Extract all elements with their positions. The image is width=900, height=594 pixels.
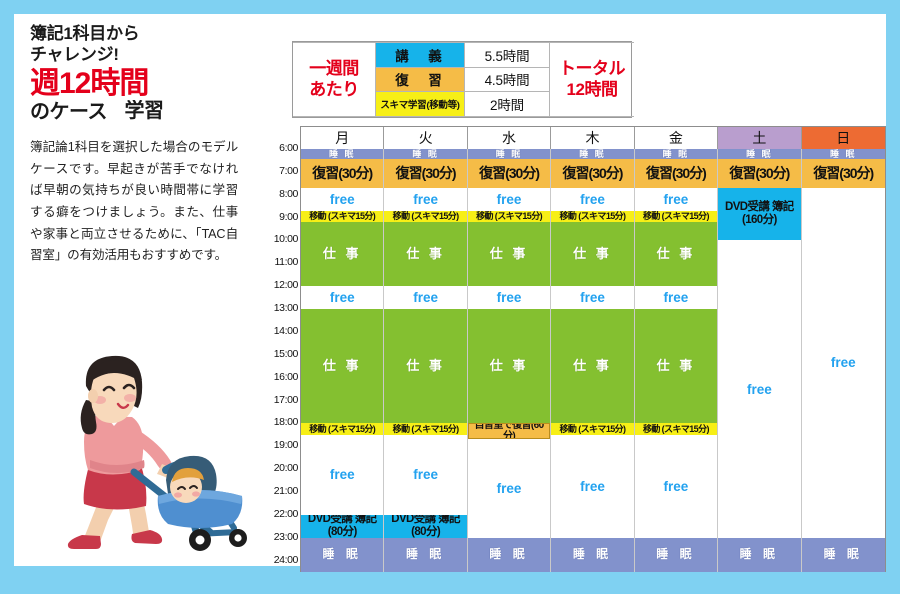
day-header-月: 月 <box>301 127 384 149</box>
schedule-block-free: free <box>468 439 550 537</box>
schedule-block-work: 仕 事 <box>468 222 550 286</box>
time-tick: 22:00 <box>274 509 298 520</box>
schedule-block-commute: 移動 (スキマ15分) <box>551 211 633 222</box>
day-header-火: 火 <box>384 127 467 149</box>
schedule-block-work: 仕 事 <box>301 222 383 286</box>
schedule-block-sleep: 睡 眠 <box>468 149 550 159</box>
headline-line-2: チャレンジ! <box>30 45 258 66</box>
description-text: 簿記論1科目を選択した場合のモデルケースです。早起きが苦手でなければ早朝の気持ち… <box>30 137 238 267</box>
time-tick: 9:00 <box>279 212 298 223</box>
time-tick: 17:00 <box>274 395 298 406</box>
schedule-block-study: 自習室で復習(60分) <box>468 423 550 439</box>
schedule-block-free: free <box>468 286 550 309</box>
schedule-block-commute: 移動 (スキマ15分) <box>384 423 466 434</box>
schedule-block-commute: 移動 (スキマ15分) <box>635 211 717 222</box>
schedule-block-commute: 移動 (スキマ15分) <box>635 423 717 434</box>
schedule-block-review: 復習(30分) <box>635 159 717 188</box>
schedule-block-work: 仕 事 <box>468 309 550 423</box>
woman-stroller-illustration <box>38 342 250 564</box>
schedule-block-free: free <box>551 188 633 211</box>
time-tick: 7:00 <box>279 166 298 177</box>
summary-total-line2: 12時間 <box>550 80 634 100</box>
time-axis: 6:007:008:009:0010:0011:0012:0013:0014:0… <box>264 126 300 574</box>
schedule-block-review: 復習(30分) <box>468 159 550 188</box>
headline-study-black: 学習 <box>30 100 258 122</box>
day-header-水: 水 <box>468 127 551 149</box>
time-tick: 18:00 <box>274 417 298 428</box>
schedule-block-free: free <box>551 286 633 309</box>
summary-row-value-gap-study: 2時間 <box>465 92 550 117</box>
schedule-block-dvd: DVD受講 簿記(80分) <box>384 515 466 538</box>
schedule-block-sleep: 睡 眠 <box>718 149 800 159</box>
schedule-block-sleep: 睡 眠 <box>635 149 717 159</box>
schedule-block-sleep: 睡 眠 <box>551 149 633 159</box>
schedule-block-free: free <box>301 286 383 309</box>
schedule-block-commute: 移動 (スキマ15分) <box>384 211 466 222</box>
schedule-block-dvd: DVD受講 簿記(80分) <box>301 515 383 538</box>
summary-week-label-line1: 一週間 <box>293 59 375 79</box>
summary-week-label-line2: あたり <box>293 80 375 100</box>
headline-emphasis: 週12時間学習 <box>30 68 258 100</box>
schedule-block-work: 仕 事 <box>301 309 383 423</box>
day-column-土: 睡 眠復習(30分)DVD受講 簿記(160分)free睡 眠 <box>718 149 801 572</box>
time-tick: 12:00 <box>274 280 298 291</box>
time-tick: 19:00 <box>274 440 298 451</box>
schedule-block-free: free <box>718 240 800 537</box>
time-tick: 11:00 <box>275 257 299 268</box>
schedule-block-sleep: 睡 眠 <box>802 149 885 159</box>
schedule-block-free: free <box>635 435 717 538</box>
summary-row-value-review: 4.5時間 <box>465 67 550 92</box>
day-header-土: 土 <box>718 127 801 149</box>
schedule-block-work: 仕 事 <box>384 309 466 423</box>
schedule-block-work: 仕 事 <box>635 222 717 286</box>
schedule-block-sleep: 睡 眠 <box>301 538 383 572</box>
time-tick: 21:00 <box>274 486 298 497</box>
schedule-block-work: 仕 事 <box>384 222 466 286</box>
summary-total-label: トータル 12時間 <box>550 43 635 117</box>
schedule-block-free: free <box>468 188 550 211</box>
day-header-日: 日 <box>802 127 885 149</box>
schedule-grid: 月睡 眠復習(30分)free移動 (スキマ15分)仕 事free仕 事移動 (… <box>300 126 886 572</box>
headline-hours-red: 週12時間 <box>30 67 148 100</box>
schedule-block-free: free <box>384 435 466 515</box>
schedule-block-free: free <box>384 188 466 211</box>
schedule-block-review: 復習(30分) <box>551 159 633 188</box>
day-column-火: 睡 眠復習(30分)free移動 (スキマ15分)仕 事free仕 事移動 (ス… <box>384 149 467 572</box>
schedule-block-free: free <box>551 435 633 538</box>
day-column-日: 睡 眠復習(30分)free睡 眠 <box>802 149 885 572</box>
day-column-金: 睡 眠復習(30分)free移動 (スキマ15分)仕 事free仕 事移動 (ス… <box>635 149 718 572</box>
schedule-block-free: free <box>384 286 466 309</box>
time-tick: 15:00 <box>274 349 298 360</box>
time-tick: 10:00 <box>274 234 298 245</box>
schedule-block-commute: 移動 (スキマ15分) <box>551 423 633 434</box>
time-tick: 20:00 <box>274 463 298 474</box>
schedule-block-review: 復習(30分) <box>384 159 466 188</box>
time-tick: 24:00 <box>274 555 298 566</box>
schedule-block-commute: 移動 (スキマ15分) <box>301 423 383 434</box>
day-column-木: 睡 眠復習(30分)free移動 (スキマ15分)仕 事free仕 事移動 (ス… <box>551 149 634 572</box>
schedule-block-work: 仕 事 <box>551 222 633 286</box>
summary-row-value-lecture: 5.5時間 <box>465 43 550 68</box>
time-tick: 23:00 <box>274 532 298 543</box>
day-header-木: 木 <box>551 127 634 149</box>
day-column-月: 睡 眠復習(30分)free移動 (スキマ15分)仕 事free仕 事移動 (ス… <box>301 149 384 572</box>
summary-row-label-lecture: 講 義 <box>376 43 465 68</box>
schedule-block-sleep: 睡 眠 <box>551 538 633 572</box>
schedule-block-commute: 移動 (スキマ15分) <box>301 211 383 222</box>
schedule-block-free: free <box>802 188 885 538</box>
schedule-block-sleep: 睡 眠 <box>802 538 885 572</box>
schedule-block-sleep: 睡 眠 <box>718 538 800 572</box>
schedule-block-review: 復習(30分) <box>301 159 383 188</box>
schedule-block-sleep: 睡 眠 <box>468 538 550 572</box>
schedule-block-commute: 移動 (スキマ15分) <box>468 211 550 222</box>
summary-week-label: 一週間 あたり <box>293 43 376 117</box>
schedule-block-sleep: 睡 眠 <box>635 538 717 572</box>
weekly-summary-table: 一週間 あたり 講 義 5.5時間 トータル 12時間 復 習 4.5時間 スキ… <box>292 41 632 118</box>
time-tick: 8:00 <box>279 189 298 200</box>
summary-total-line1: トータル <box>550 59 634 79</box>
schedule-block-sleep: 睡 眠 <box>384 538 466 572</box>
schedule-block-dvd: DVD受講 簿記(160分) <box>718 188 800 241</box>
schedule-block-free: free <box>635 286 717 309</box>
schedule-block-free: free <box>635 188 717 211</box>
poster-page: 簿記1科目から チャレンジ! 週12時間学習 のケース 簿記論1科目を選択した場… <box>14 14 886 566</box>
weekly-schedule: 6:007:008:009:0010:0011:0012:0013:0014:0… <box>264 126 886 574</box>
schedule-block-sleep: 睡 眠 <box>301 149 383 159</box>
schedule-block-work: 仕 事 <box>635 309 717 423</box>
time-tick: 13:00 <box>274 303 298 314</box>
day-column-水: 睡 眠復習(30分)free移動 (スキマ15分)仕 事free仕 事自習室で復… <box>468 149 551 572</box>
schedule-block-review: 復習(30分) <box>802 159 885 188</box>
summary-row-label-gap-study: スキマ学習(移動等) <box>376 92 465 117</box>
time-tick: 6:00 <box>279 143 298 154</box>
day-header-金: 金 <box>635 127 718 149</box>
schedule-block-free: free <box>301 188 383 211</box>
summary-row-label-review: 復 習 <box>376 67 465 92</box>
schedule-block-free: free <box>301 435 383 515</box>
schedule-block-review: 復習(30分) <box>718 159 800 188</box>
time-tick: 16:00 <box>274 372 298 383</box>
left-panel: 簿記1科目から チャレンジ! 週12時間学習 のケース 簿記論1科目を選択した場… <box>30 24 258 564</box>
schedule-block-work: 仕 事 <box>551 309 633 423</box>
schedule-block-sleep: 睡 眠 <box>384 149 466 159</box>
headline-line-1: 簿記1科目から <box>30 24 258 45</box>
time-tick: 14:00 <box>274 326 298 337</box>
